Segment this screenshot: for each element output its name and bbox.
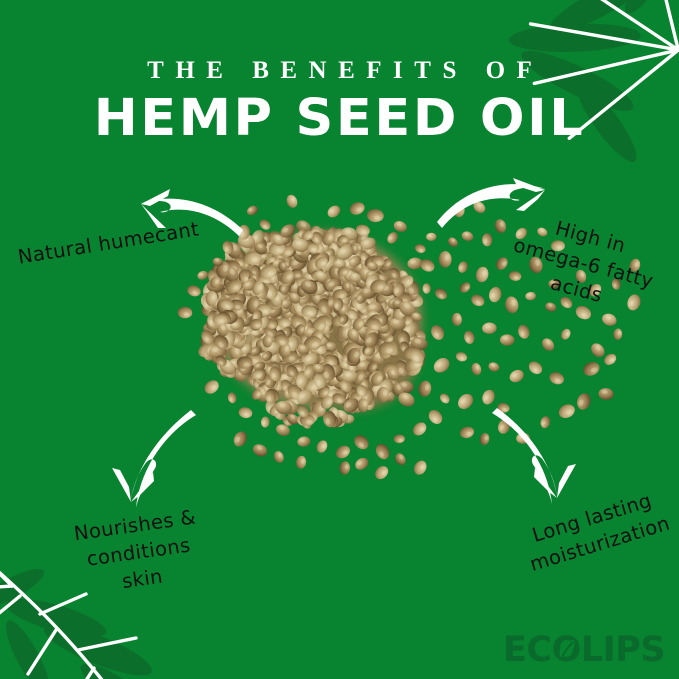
arrow-bottom-left-icon <box>112 410 196 508</box>
arrow-bottom-right-icon <box>492 408 576 504</box>
brand-name: ECOLIPS <box>503 633 665 668</box>
leaf-icon <box>555 638 579 664</box>
brand-logo: ECOLIPS <box>503 633 665 668</box>
infographic-poster: .leafblade { fill: #0c6e2b; } .leafstrok… <box>0 0 679 679</box>
